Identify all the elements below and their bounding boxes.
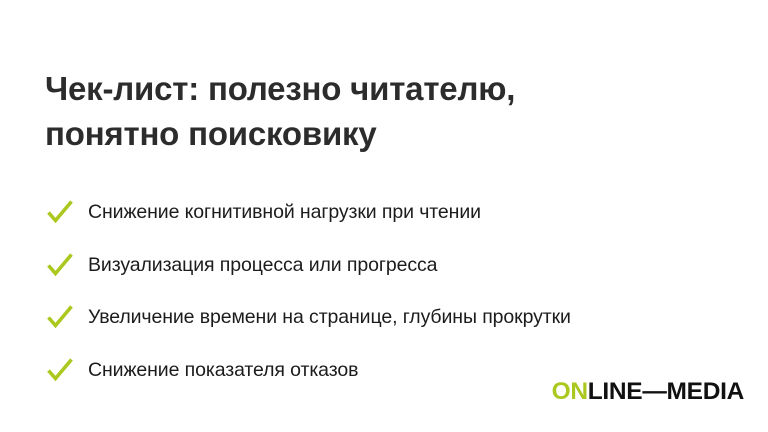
brand-logo-accent: ON	[552, 379, 588, 405]
list-item: Увеличение времени на странице, глубины …	[45, 291, 735, 344]
page-title: Чек-лист: полезно читателю, понятно поис…	[45, 66, 705, 156]
check-mark-icon	[45, 302, 75, 332]
list-item-label: Снижение показателя отказов	[88, 357, 358, 383]
list-item-label: Снижение когнитивной нагрузки при чтении	[88, 199, 481, 225]
check-mark-icon	[45, 355, 75, 385]
brand-logo-rest: LINE—MEDIA	[588, 379, 744, 405]
list-item: Визуализация процесса или прогресса	[45, 239, 735, 292]
brand-logo: ONLINE—MEDIA	[552, 379, 744, 405]
check-mark-icon	[45, 250, 75, 280]
checklist: Снижение когнитивной нагрузки при чтении…	[45, 186, 735, 396]
check-mark-icon	[45, 197, 75, 227]
slide-canvas: Чек-лист: полезно читателю, понятно поис…	[0, 0, 768, 432]
list-item: Снижение когнитивной нагрузки при чтении	[45, 186, 735, 239]
list-item-label: Увеличение времени на странице, глубины …	[88, 304, 571, 330]
list-item-label: Визуализация процесса или прогресса	[88, 252, 437, 278]
